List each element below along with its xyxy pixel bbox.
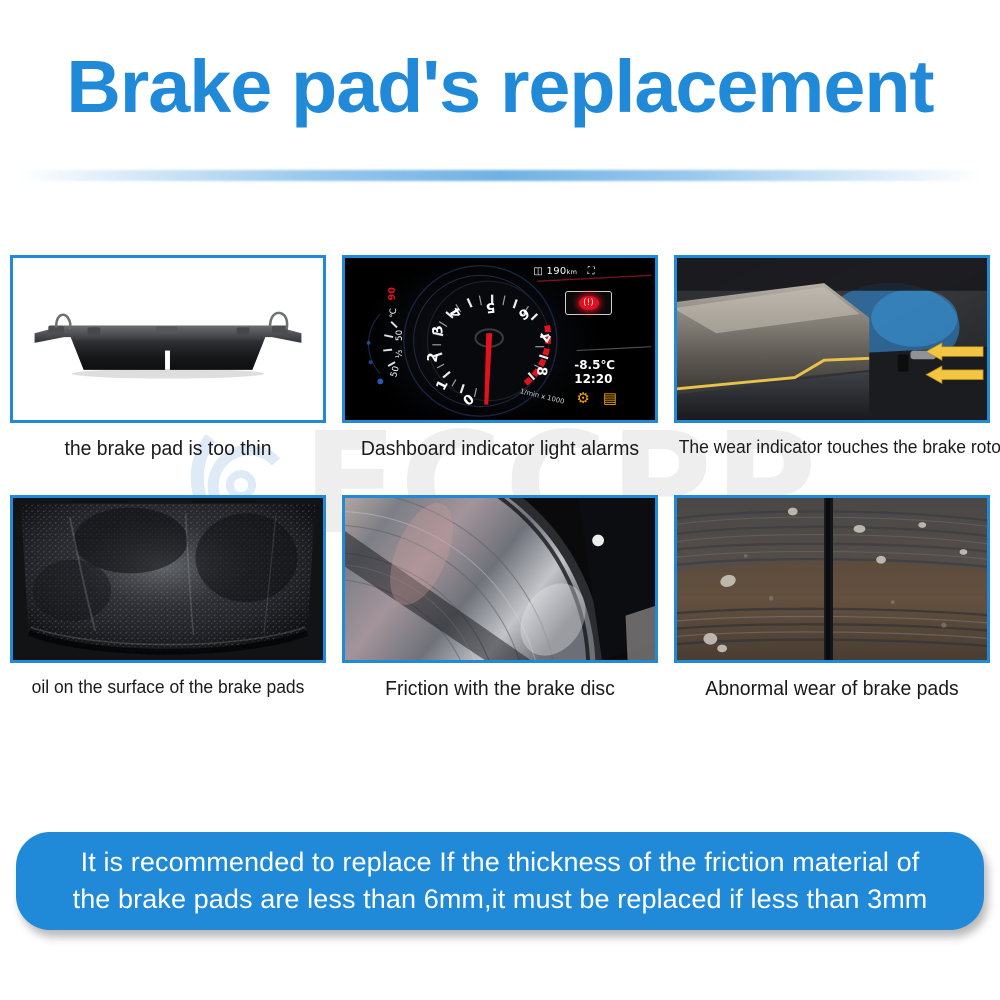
- svg-text:50: 50: [389, 365, 402, 378]
- amber-warning-icons: ⚙ ▤: [576, 391, 617, 406]
- svg-text:90: 90: [387, 287, 398, 301]
- tile-caption: the brake pad is too thin: [15, 437, 322, 461]
- header-divider: [20, 170, 980, 181]
- odometer-readout: ◫ 190km ⛶: [533, 266, 595, 278]
- tile-abnormal-wear: Abnormal wear of brake pads: [674, 495, 990, 701]
- tile-grid: the brake pad is too thin: [10, 255, 990, 701]
- page-title: Brake pad's replacement: [0, 44, 1000, 129]
- clock-value: 12:20: [574, 373, 615, 387]
- brake-pad-product-photo: [10, 255, 326, 423]
- odometer-unit: km: [567, 268, 578, 276]
- dashboard-cluster-photo: 0 1 2 3 4 5 6 7 8: [342, 255, 658, 423]
- engine-warning-icon: ⚙: [576, 391, 589, 406]
- abs-warning-icon: ▤: [603, 391, 617, 406]
- svg-text:8: 8: [533, 366, 550, 377]
- tile-caption: Abnormal wear of brake pads: [679, 677, 986, 701]
- svg-text:⅓: ⅓: [395, 349, 405, 358]
- tile-row-2: oil on the surface of the brake pads: [10, 495, 990, 701]
- tile-oil-on-surface: oil on the surface of the brake pads: [10, 495, 326, 699]
- tile-dashboard-alarm: 0 1 2 3 4 5 6 7 8: [342, 255, 658, 461]
- tile-caption: The wear indicator touches the brake rot…: [679, 437, 986, 459]
- banner-line-1: It is recommended to replace If the thic…: [81, 844, 920, 881]
- tile-brake-pad-too-thin: the brake pad is too thin: [10, 255, 326, 461]
- svg-text:5: 5: [485, 299, 496, 316]
- tile-caption: Dashboard indicator light alarms: [347, 437, 654, 461]
- temp-clock-readout: -8.5℃ 12:20: [574, 359, 615, 387]
- temperature-value: -8.5℃: [574, 359, 615, 373]
- tile-caption: Friction with the brake disc: [347, 677, 654, 701]
- odometer-value: 190: [547, 266, 567, 277]
- brake-warning-icon: (!): [565, 291, 612, 315]
- recommendation-banner: It is recommended to replace If the thic…: [16, 832, 984, 930]
- oily-brake-pad-photo: [10, 495, 326, 663]
- tile-friction-with-disc: Friction with the brake disc: [342, 495, 658, 701]
- banner-line-2: the brake pads are less than 6mm,it must…: [73, 881, 928, 918]
- abnormal-wear-photo: [674, 495, 990, 663]
- svg-text:50: 50: [395, 330, 405, 341]
- wear-indicator-photo: [674, 255, 990, 423]
- tile-row-1: the brake pad is too thin: [10, 255, 990, 461]
- tile-caption: oil on the surface of the brake pads: [15, 677, 322, 699]
- svg-text:℃: ℃: [389, 308, 399, 318]
- svg-text:1/min x 1000: 1/min x 1000: [519, 387, 565, 406]
- brake-pad-replacement-infographic: ECCPP Brake pad's replacement: [0, 0, 1000, 1000]
- tile-wear-indicator: The wear indicator touches the brake rot…: [674, 255, 990, 459]
- brake-disc-friction-photo: [342, 495, 658, 663]
